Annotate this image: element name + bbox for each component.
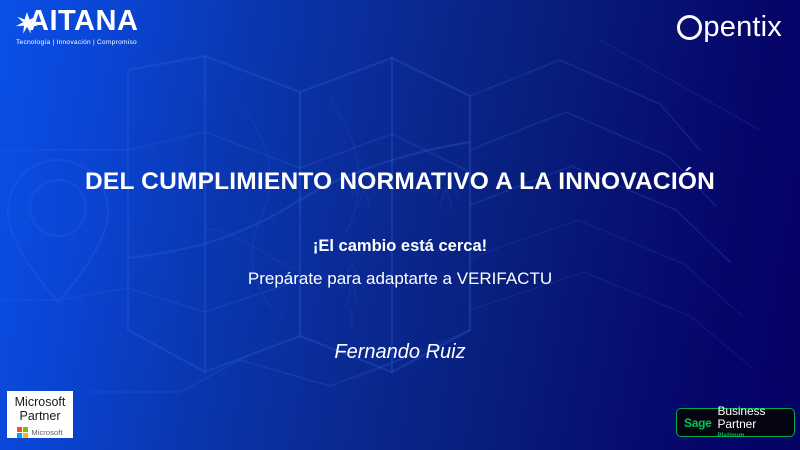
microsoft-logo-label: Microsoft	[31, 429, 62, 437]
sage-badge-text: Business Partner Platinum	[717, 405, 794, 440]
slide-subtitle-secondary: Prepárate para adaptarte a VERIFACTU	[0, 269, 800, 289]
aitana-logo: AITANA Tecnología | Innovación | Comprom…	[12, 6, 142, 47]
star-icon	[16, 12, 38, 34]
slide-subtitle-primary: ¡El cambio está cerca!	[0, 237, 800, 256]
microsoft-squares-icon	[17, 427, 28, 438]
sage-partner-label: Business Partner	[717, 405, 794, 431]
opentix-logo: pentix	[677, 10, 782, 44]
slide-title: DEL CUMPLIMIENTO NORMATIVO A LA INNOVACI…	[0, 168, 800, 196]
circle-outline-icon	[677, 15, 702, 40]
sage-tier-label: Platinum	[717, 432, 794, 440]
slide-presenter-name: Fernando Ruiz	[0, 341, 800, 364]
sage-wordmark: Sage	[684, 416, 711, 430]
opentix-wordmark: pentix	[703, 13, 782, 42]
aitana-tagline: Tecnología | Innovación | Compromiso	[12, 38, 142, 47]
microsoft-partner-badge: Microsoft Partner Microsoft	[7, 391, 73, 438]
background-map-artwork	[0, 0, 800, 450]
microsoft-partner-line-2: Partner	[7, 409, 73, 423]
microsoft-logo-row: Microsoft	[7, 427, 73, 438]
microsoft-partner-line-1: Microsoft	[7, 395, 73, 409]
sheen-lines	[352, 40, 760, 380]
presentation-slide: AITANA Tecnología | Innovación | Comprom…	[0, 0, 800, 450]
sage-business-partner-badge: Sage Business Partner Platinum	[676, 408, 795, 437]
